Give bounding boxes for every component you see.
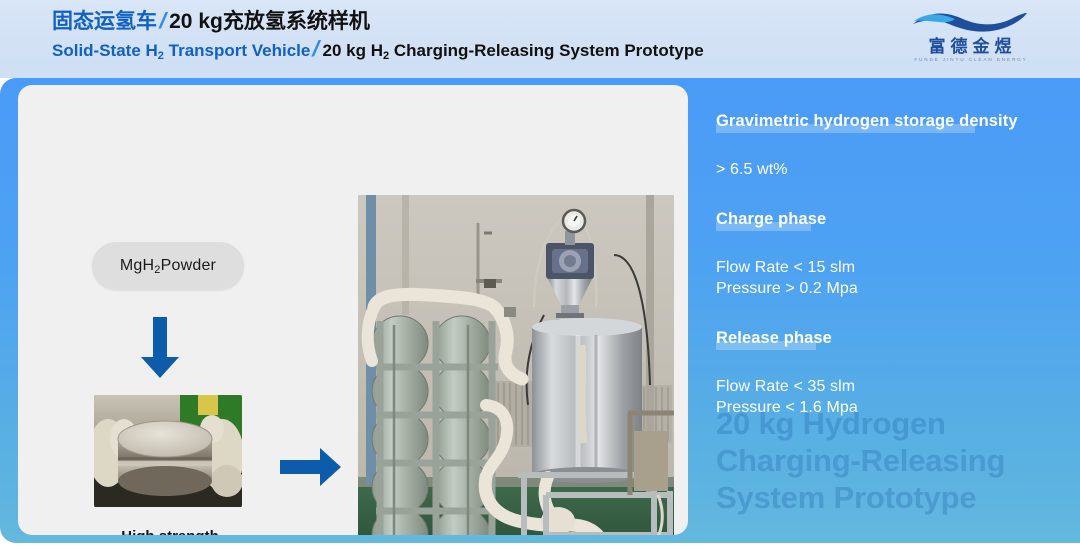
spacer — [716, 349, 1066, 376]
title-english-main: Solid-State H2 Transport Vehicle — [52, 41, 310, 60]
spec-charge-pressure: Pressure > 0.2 Mpa — [716, 278, 1066, 299]
page-header: 固态运氢车/20 kg充放氢系统样机 Solid-State H2 Transp… — [0, 0, 1080, 78]
spec-release-flow: Flow Rate < 35 slm — [716, 376, 1066, 397]
sample-caption: High strength High thermal conductivity — [36, 527, 304, 535]
spec-section-charge: Charge phase Flow Rate < 15 slm Pressure… — [716, 208, 1066, 299]
spec-charge-flow: Flow Rate < 15 slm — [716, 257, 1066, 278]
watermark-line-2: Charging-Releasing — [716, 442, 1056, 479]
spacer — [716, 180, 1066, 208]
spec-heading-density: Gravimetric hydrogen storage density — [716, 110, 1018, 132]
down-arrow-icon — [140, 317, 180, 379]
watermark-line-1: 20 kg Hydrogen — [716, 405, 1056, 442]
spacer — [716, 132, 1066, 159]
specs-column: Gravimetric hydrogen storage density > 6… — [716, 110, 1066, 418]
title-english-sub-b: Charging-Releasing System Prototype — [389, 41, 704, 60]
wave-icon — [911, 10, 1029, 36]
watermark-title: 20 kg Hydrogen Charging-Releasing System… — [716, 405, 1056, 516]
title-english-sub-a: 20 kg H — [323, 41, 383, 60]
powder-sample-photo — [94, 395, 242, 507]
watermark-line-3: System Prototype — [716, 479, 1056, 516]
material-label-pill: MgH2Powder — [92, 242, 244, 290]
title-english: Solid-State H2 Transport Vehicle/20 kg H… — [52, 37, 704, 68]
title-english-main-text: Solid-State H — [52, 41, 158, 60]
logo-company-name-cn: 富德金煜 — [908, 37, 1032, 56]
title-chinese-main: 固态运氢车 — [52, 10, 157, 33]
title-chinese-sub: 20 kg充放氢系统样机 — [169, 10, 370, 33]
diagram-card: MgH2Powder — [18, 85, 688, 535]
company-logo: 富德金煜 FUNDE JINYU CLEAN ENERGY — [908, 10, 1032, 70]
spec-section-density: Gravimetric hydrogen storage density > 6… — [716, 110, 1066, 180]
spacer — [716, 299, 1066, 327]
spec-heading-charge: Charge phase — [716, 208, 826, 230]
logo-company-name-en: FUNDE JINYU CLEAN ENERGY — [908, 57, 1032, 63]
material-formula-b: Powder — [161, 257, 216, 274]
title-english-sub: 20 kg H2 Charging-Releasing System Proto… — [323, 41, 704, 60]
spacer — [716, 230, 1066, 257]
title-english-main-tail: Transport Vehicle — [164, 41, 310, 60]
caption-line-1: High strength — [36, 527, 304, 535]
title-chinese: 固态运氢车/20 kg充放氢系统样机 — [52, 8, 704, 35]
material-formula-a: MgH — [120, 257, 154, 274]
material-formula: MgH2Powder — [120, 257, 216, 276]
spec-heading-release: Release phase — [716, 327, 832, 349]
prototype-photo — [358, 195, 674, 535]
header-title-block: 固态运氢车/20 kg充放氢系统样机 Solid-State H2 Transp… — [52, 8, 704, 68]
spec-value-density: > 6.5 wt% — [716, 159, 1066, 180]
right-arrow-icon — [280, 447, 342, 487]
